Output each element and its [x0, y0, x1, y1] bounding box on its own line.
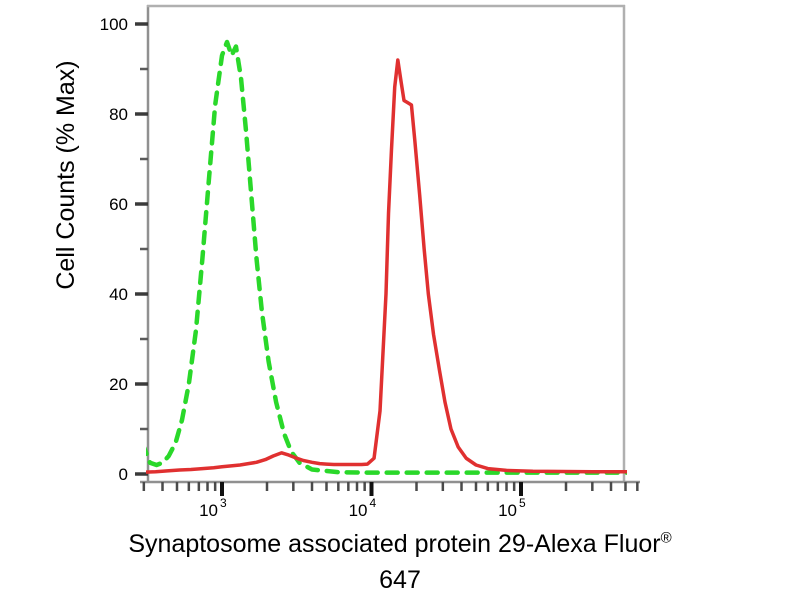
x-axis-tick-exponent: 4 — [370, 496, 377, 510]
y-axis-tick-label: 80 — [109, 105, 128, 124]
y-axis-tick-label: 20 — [109, 375, 128, 394]
x-axis-tick-mantissa: 10 — [199, 501, 218, 520]
y-axis-tick-labels: 020406080100 — [100, 15, 128, 484]
x-axis-tick-label: 105 — [498, 496, 526, 520]
x-axis-tick-mantissa: 10 — [498, 501, 517, 520]
flow-cytometry-figure: 020406080100 103104105 Cell Counts (% Ma… — [0, 0, 800, 600]
y-axis-tick-label: 0 — [119, 465, 128, 484]
y-axis-ticks — [135, 24, 148, 474]
y-axis-tick-label: 60 — [109, 195, 128, 214]
x-axis-title: Synaptosome associated protein 29-Alexa … — [0, 526, 800, 598]
x-axis-tick-mantissa: 10 — [349, 501, 368, 520]
x-axis-ticks — [144, 482, 638, 496]
x-axis-title-line-1: Synaptosome associated protein 29-Alexa … — [0, 526, 800, 562]
y-axis-tick-label: 40 — [109, 285, 128, 304]
x-axis-tick-label: 104 — [349, 496, 377, 520]
x-axis-title-line-2: 647 — [0, 562, 800, 598]
histogram-plot: 020406080100 103104105 — [0, 0, 800, 600]
registered-trademark-symbol: ® — [661, 530, 672, 547]
x-axis-tick-exponent: 5 — [519, 496, 526, 510]
data-series-group — [121, 24, 664, 473]
x-axis-tick-label: 103 — [199, 496, 227, 520]
plot-frame — [140, 5, 640, 483]
data-series-line-0 — [121, 24, 664, 473]
x-axis-title-text: Synaptosome associated protein 29-Alexa … — [128, 530, 660, 558]
data-series-line-1 — [121, 60, 664, 472]
x-axis-tick-exponent: 3 — [220, 496, 227, 510]
y-axis-tick-label: 100 — [100, 15, 128, 34]
x-axis-tick-labels: 103104105 — [199, 496, 526, 520]
y-axis-title: Cell Counts (% Max) — [44, 0, 88, 425]
